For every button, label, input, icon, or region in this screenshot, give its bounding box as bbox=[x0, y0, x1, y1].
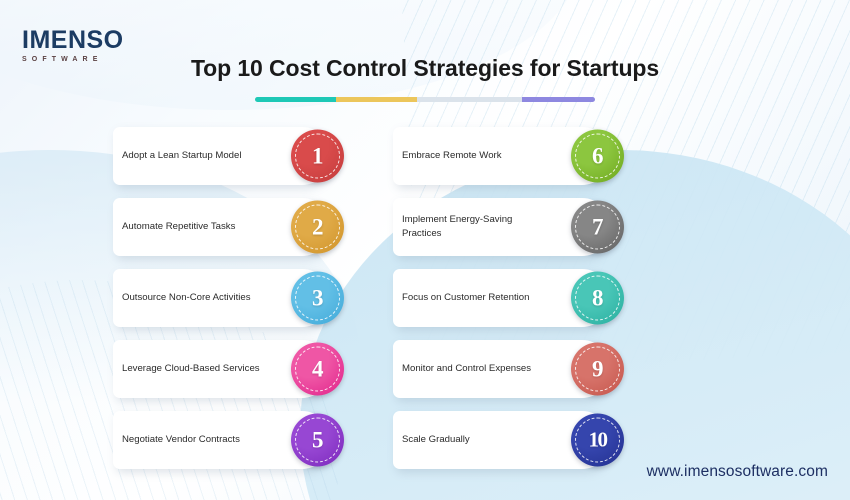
strategy-number: 8 bbox=[592, 285, 603, 311]
strategy-number: 9 bbox=[592, 356, 603, 382]
strategy-card-label: Scale Gradually bbox=[402, 433, 470, 447]
strategy-number: 5 bbox=[312, 427, 323, 453]
strategy-number: 1 bbox=[312, 143, 323, 169]
strategy-number-badge: 1 bbox=[291, 130, 344, 183]
strategy-number-badge: 6 bbox=[571, 130, 624, 183]
strategy-card-label: Leverage Cloud-Based Services bbox=[122, 362, 260, 376]
divider-segment-1 bbox=[255, 97, 336, 102]
strategy-number: 2 bbox=[312, 214, 323, 240]
strategy-number-badge: 10 bbox=[571, 414, 624, 467]
strategy-card[interactable]: Adopt a Lean Startup Model1 bbox=[113, 127, 331, 185]
strategy-card-label: Focus on Customer Retention bbox=[402, 291, 529, 305]
strategy-card-label: Adopt a Lean Startup Model bbox=[122, 149, 241, 163]
strategy-card[interactable]: Focus on Customer Retention8 bbox=[393, 269, 611, 327]
strategy-number-badge: 7 bbox=[571, 201, 624, 254]
infographic-canvas: IMENSO SOFTWARE Top 10 Cost Control Stra… bbox=[0, 0, 850, 500]
strategy-card[interactable]: Monitor and Control Expenses9 bbox=[393, 340, 611, 398]
strategy-card-label: Implement Energy-Saving Practices bbox=[402, 213, 549, 241]
strategy-card-grid: Adopt a Lean Startup Model1Automate Repe… bbox=[113, 127, 738, 469]
strategy-card-label: Monitor and Control Expenses bbox=[402, 362, 531, 376]
strategy-number-badge: 2 bbox=[291, 201, 344, 254]
page-title: Top 10 Cost Control Strategies for Start… bbox=[0, 55, 850, 82]
divider-segment-3 bbox=[417, 97, 521, 102]
strategy-number-badge: 8 bbox=[571, 272, 624, 325]
strategy-card[interactable]: Implement Energy-Saving Practices7 bbox=[393, 198, 611, 256]
strategy-card[interactable]: Negotiate Vendor Contracts5 bbox=[113, 411, 331, 469]
strategy-number-badge: 4 bbox=[291, 343, 344, 396]
strategy-card[interactable]: Automate Repetitive Tasks2 bbox=[113, 198, 331, 256]
strategy-number-badge: 9 bbox=[571, 343, 624, 396]
strategy-card[interactable]: Leverage Cloud-Based Services4 bbox=[113, 340, 331, 398]
strategy-number: 10 bbox=[589, 428, 607, 453]
strategy-card-label: Automate Repetitive Tasks bbox=[122, 220, 235, 234]
strategy-number: 6 bbox=[592, 143, 603, 169]
strategy-number-badge: 3 bbox=[291, 272, 344, 325]
strategy-card-label: Embrace Remote Work bbox=[402, 149, 502, 163]
divider-segment-2 bbox=[336, 97, 417, 102]
strategy-number: 3 bbox=[312, 285, 323, 311]
strategy-card[interactable]: Scale Gradually10 bbox=[393, 411, 611, 469]
divider-segment-4 bbox=[522, 97, 595, 102]
strategy-number-badge: 5 bbox=[291, 414, 344, 467]
logo-wordmark: IMENSO bbox=[22, 28, 172, 53]
strategy-card[interactable]: Outsource Non-Core Activities3 bbox=[113, 269, 331, 327]
title-divider bbox=[255, 97, 595, 102]
strategy-card[interactable]: Embrace Remote Work6 bbox=[393, 127, 611, 185]
strategy-number: 4 bbox=[312, 356, 323, 382]
strategy-number: 7 bbox=[592, 214, 603, 240]
strategy-card-label: Negotiate Vendor Contracts bbox=[122, 433, 240, 447]
strategy-card-label: Outsource Non-Core Activities bbox=[122, 291, 251, 305]
website-url: www.imensosoftware.com bbox=[647, 463, 828, 481]
